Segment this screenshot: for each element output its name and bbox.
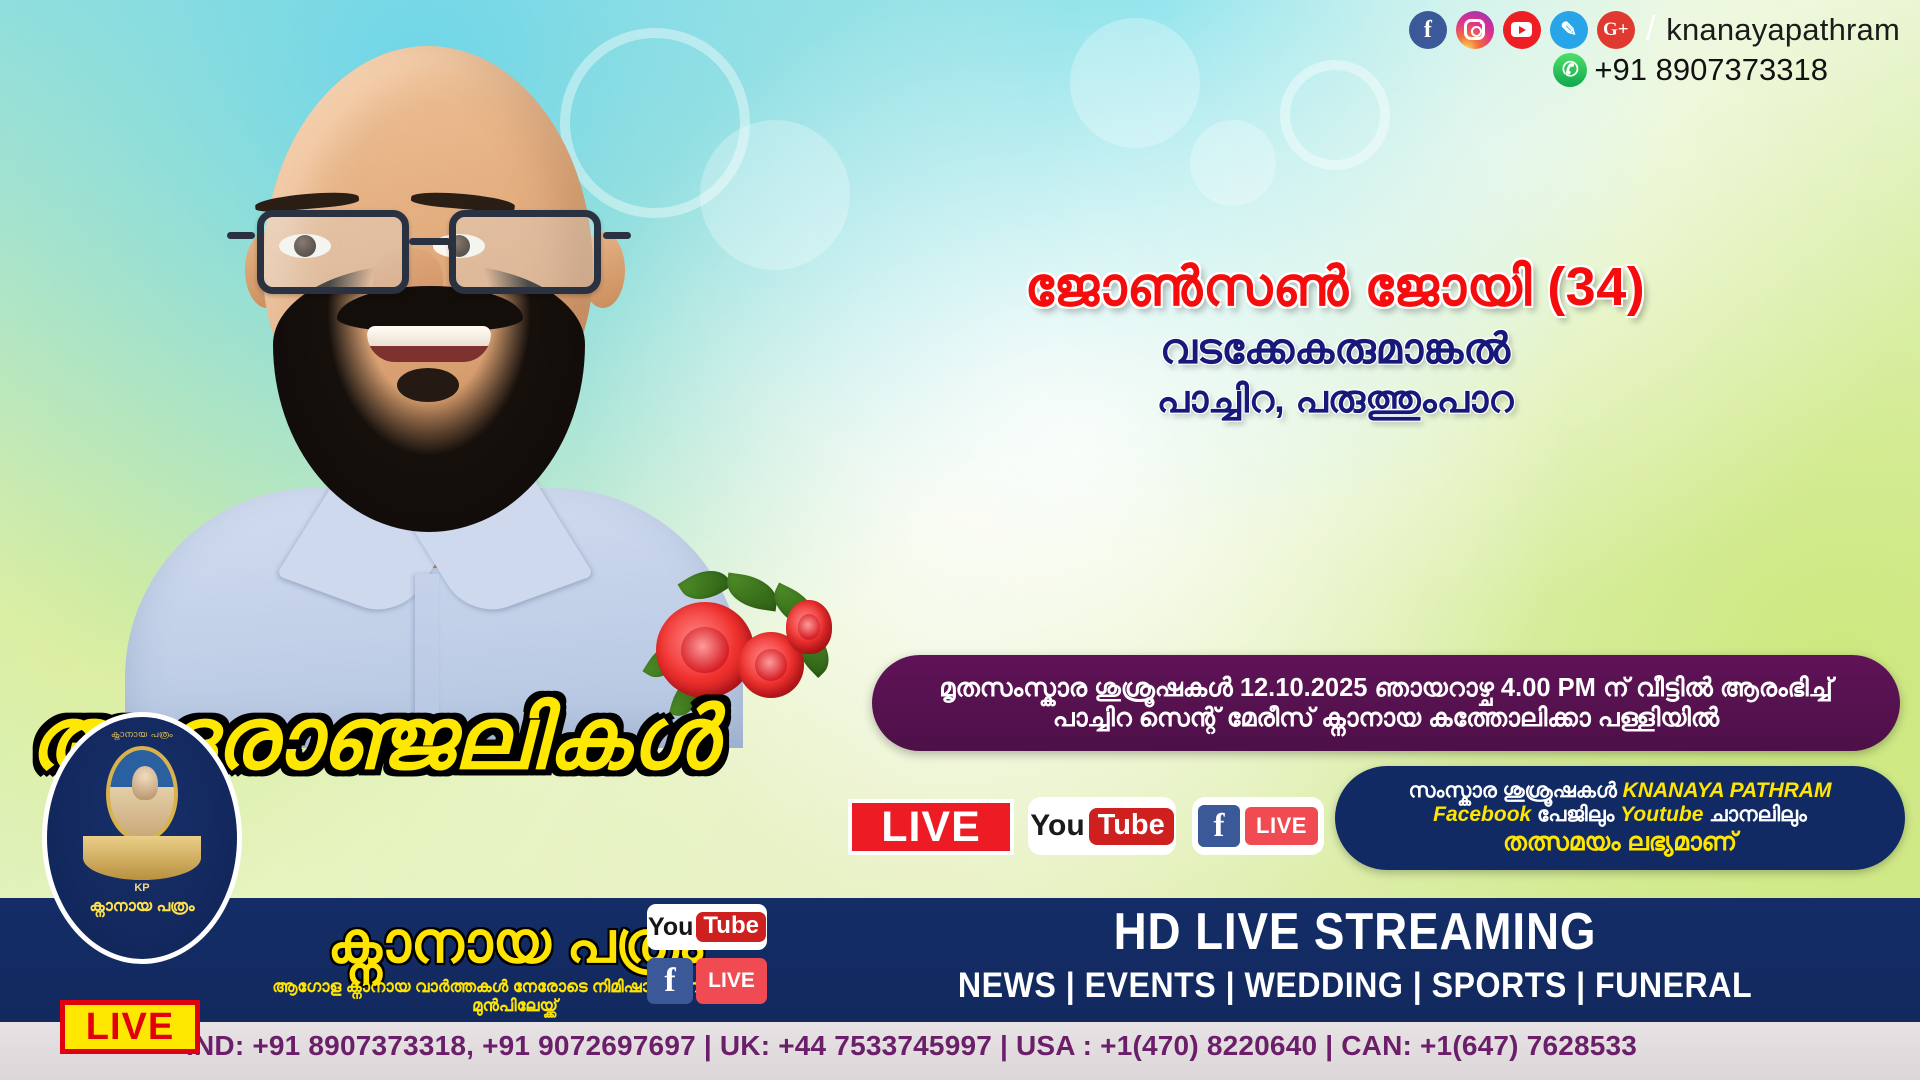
facebook-suffix: പേജിലും [1531, 803, 1620, 826]
contact-phone-numbers: IND: +91 8907373318, +91 9072697697 | UK… [186, 1030, 1908, 1062]
funeral-line-2: പാച്ചിറ സെന്റ് മേരീസ് ക്നാനായ കത്തോലിക്ക… [1053, 703, 1719, 733]
mouth [367, 326, 491, 362]
streaming-line-3: തത്സമയം ലഭ്യമാണ് [1503, 828, 1737, 857]
instagram-icon[interactable] [1456, 11, 1494, 49]
footer-youtube-you: You [648, 913, 693, 942]
social-links-row[interactable]: f ✎ G+ / knanayapathram [1409, 10, 1900, 49]
logo-live-badge[interactable]: LIVE [60, 1000, 200, 1054]
footer-facebook-badge[interactable]: f LIVE [647, 958, 767, 1004]
streaming-info-box: സംസ്കാര ശുശ്രൂഷകൾ KNANAYA PATHRAM Facebo… [1335, 766, 1905, 870]
youtube-suffix: ചാനലിലും [1703, 803, 1806, 826]
facebook-word: Facebook [1433, 803, 1531, 826]
live-badge[interactable]: LIVE [848, 799, 1014, 855]
footer-facebook-live: LIVE [696, 958, 767, 1004]
twitter-icon[interactable]: ✎ [1550, 11, 1588, 49]
footer-youtube-tube: Tube [696, 912, 766, 942]
whatsapp-number: +91 8907373318 [1594, 52, 1828, 88]
hd-live-streaming-title: HD LIVE STREAMING [858, 902, 1852, 962]
deceased-name: ജോൺസൺ ജോയി (34) [760, 256, 1910, 319]
funeral-details-box: മൃതസംസ്കാര ശുശ്രൂഷകൾ 12.10.2025 ഞായറാഴ്ച… [872, 655, 1900, 751]
chin-patch [397, 368, 459, 402]
obituary-poster: f ✎ G+ / knanayapathram ✆ +91 8907373318… [0, 0, 1920, 1080]
youtube-tube-text: Tube [1089, 808, 1174, 845]
footer-youtube-badge[interactable]: You Tube [647, 904, 767, 950]
logo-ship-icon [83, 836, 201, 880]
facebook-live-text: LIVE [1245, 807, 1318, 845]
streaming-categories: NEWS | EVENTS | WEDDING | SPORTS | FUNER… [835, 966, 1875, 1006]
facebook-icon[interactable]: f [1409, 11, 1447, 49]
facebook-icon: f [1198, 805, 1240, 847]
logo-arc-text: ക്നാനായ പത്രം [111, 729, 173, 740]
knanaya-pathram-logo: ക്നാനായ പത്രം KP ക്നാനായ പത്രം [42, 712, 242, 964]
google-plus-icon[interactable]: G+ [1597, 11, 1635, 49]
facebook-live-badge[interactable]: f LIVE [1192, 797, 1324, 855]
streaming-line-1: സംസ്കാര ശുശ്രൂഷകൾ KNANAYA PATHRAM [1409, 779, 1832, 804]
eyeglasses [243, 204, 615, 300]
youtube-badge[interactable]: You Tube [1028, 797, 1176, 855]
youtube-word: Youtube [1620, 803, 1703, 826]
brand-name: KNANAYA PATHRAM [1623, 779, 1832, 802]
streaming-line-2: Facebook പേജിലും Youtube ചാനലിലും [1433, 803, 1807, 828]
logo-name-text: ക്നാനായ പത്രം [89, 898, 194, 916]
youtube-icon[interactable] [1503, 11, 1541, 49]
youtube-you-text: You [1030, 809, 1084, 843]
whatsapp-row[interactable]: ✆ +91 8907373318 [1553, 52, 1828, 88]
facebook-icon: f [647, 958, 693, 1004]
separator-slash: / [1646, 10, 1655, 49]
deceased-house-name: വടക്കേകരുമാങ്കൽ [760, 325, 1910, 374]
logo-monogram: KP [134, 882, 149, 894]
streaming-prefix: സംസ്കാര ശുശ്രൂഷകൾ [1409, 779, 1623, 802]
social-handle: knanayapathram [1666, 12, 1900, 48]
whatsapp-icon[interactable]: ✆ [1553, 53, 1587, 87]
funeral-line-1: മൃതസംസ്കാര ശുശ്രൂഷകൾ 12.10.2025 ഞായറാഴ്ച… [939, 673, 1832, 703]
deceased-place: പാച്ചിറ, പരുത്തുംപാറ [760, 379, 1910, 422]
logo-portrait-oval [106, 746, 178, 842]
